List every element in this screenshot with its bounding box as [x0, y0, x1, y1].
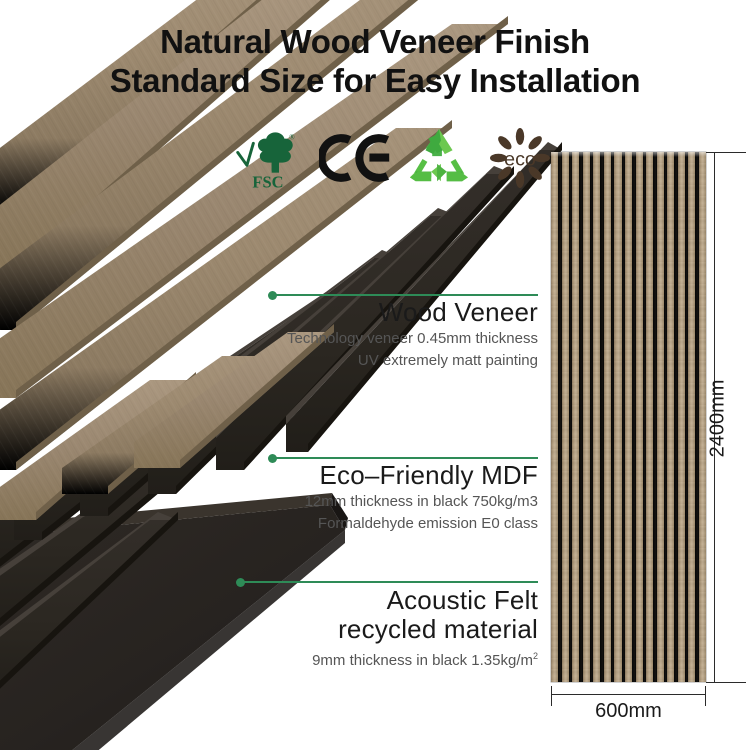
- panel-slat: [678, 152, 685, 682]
- panel-slat: [593, 152, 600, 682]
- panel-slat: [646, 152, 653, 682]
- panel-slat: [667, 152, 674, 682]
- eco-label: eco: [504, 149, 536, 171]
- callout-acoustic-felt: Acoustic Felt recycled material 9mm thic…: [208, 586, 538, 671]
- panel-slat: [562, 152, 569, 682]
- panel-slat: [625, 152, 632, 682]
- callout-heading-wood-veneer: Wood Veneer: [208, 298, 538, 327]
- panel-slat: [688, 152, 695, 682]
- callout-detail-wood-veneer-line1: Technology veneer 0.45mm thickness: [208, 329, 538, 349]
- width-dimension-line: [551, 694, 706, 695]
- callout-rule-eco-friendly-mdf: [276, 457, 538, 459]
- svg-text:®: ®: [289, 133, 295, 142]
- panel-slat: [572, 152, 579, 682]
- callout-dot-eco-friendly-mdf: [268, 454, 277, 463]
- panel-slat: [636, 152, 643, 682]
- height-dimension-label: 2400mm: [707, 379, 730, 459]
- callout-dot-wood-veneer: [268, 291, 277, 300]
- callout-detail-acoustic-felt: 9mm thickness in black 1.35kg/m2: [208, 646, 538, 671]
- callout-wood-veneer: Wood Veneer Technology veneer 0.45mm thi…: [208, 298, 538, 371]
- callout-detail-acoustic-felt-superscript: 2: [533, 651, 538, 661]
- callout-heading-eco-friendly-mdf: Eco–Friendly MDF: [208, 461, 538, 490]
- panel-slat: [583, 152, 590, 682]
- height-extension-line-bottom: [706, 682, 746, 683]
- fsc-certification-icon: ® FSC: [232, 122, 304, 194]
- product-infographic: Natural Wood Veneer Finish Standard Size…: [0, 0, 750, 750]
- callout-heading-acoustic-felt-line2: recycled material: [208, 615, 538, 644]
- callout-detail-eco-friendly-mdf-line1: 12mm thickness in black 750kg/m3: [208, 492, 538, 512]
- panel-slat: [604, 152, 611, 682]
- callout-detail-acoustic-felt-text: 9mm thickness in black 1.35kg/m: [312, 652, 533, 669]
- certification-badge-row: ® FSC: [232, 120, 552, 196]
- eco-badge-icon: eco: [488, 122, 552, 194]
- callout-heading-acoustic-felt: Acoustic Felt: [208, 586, 538, 615]
- width-dimension-label: 600mm: [551, 700, 706, 723]
- callout-rule-wood-veneer: [276, 294, 538, 296]
- acoustic-slat-panel-render: [551, 152, 706, 682]
- slat-array: [551, 152, 706, 682]
- panel-slat: [551, 152, 558, 682]
- panel-top-edge-highlight: [551, 152, 706, 157]
- callout-detail-eco-friendly-mdf-line2: Formaldehyde emission E0 class: [208, 514, 538, 534]
- recycling-symbol-icon: [405, 122, 473, 194]
- callout-dot-acoustic-felt: [236, 578, 245, 587]
- fsc-label: FSC: [252, 172, 283, 191]
- ce-marking-icon: [319, 122, 391, 194]
- panel-slat: [699, 152, 706, 682]
- panel-slat: [614, 152, 621, 682]
- callout-detail-wood-veneer-line2: UV extremely matt painting: [208, 351, 538, 371]
- height-extension-line-top: [706, 152, 746, 153]
- callout-eco-friendly-mdf: Eco–Friendly MDF 12mm thickness in black…: [208, 461, 538, 534]
- callout-rule-acoustic-felt: [244, 581, 538, 583]
- panel-slat: [657, 152, 664, 682]
